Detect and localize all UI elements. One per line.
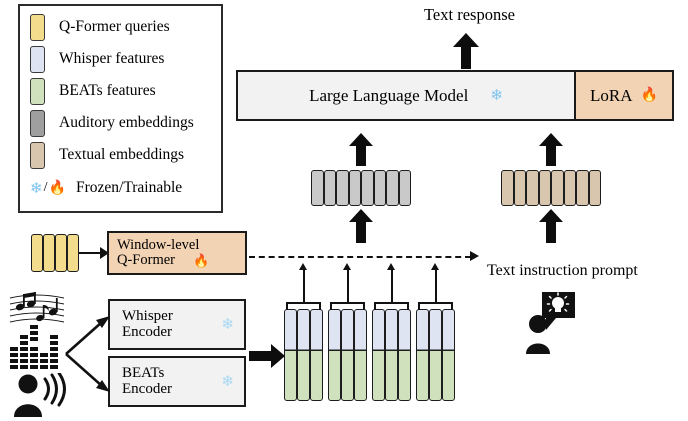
- arrow-right-icon: [470, 251, 479, 261]
- whisper-encoder-label-line1: Whisper: [122, 309, 173, 324]
- legend-item-frozen-trainable: ❄ / 🔥 Frozen/Trainable: [30, 173, 182, 203]
- textual-embedding-token: [564, 170, 577, 206]
- legend-swatch-qformer-queries: [30, 14, 45, 41]
- feature-column: [354, 309, 367, 401]
- lora-section[interactable]: LoRA 🔥: [576, 72, 672, 119]
- audio-features-area: [284, 309, 458, 409]
- legend-swatch-auditory-embeddings: [30, 110, 45, 137]
- feature-column: [284, 309, 297, 401]
- arrow-up-icon: [299, 263, 307, 270]
- qformer-query-token: [55, 234, 67, 272]
- auditory-embedding-token: [361, 170, 374, 206]
- textual-embedding-token: [576, 170, 589, 206]
- feature-column: [372, 309, 385, 401]
- speaking-person-icon: [12, 373, 68, 421]
- legend-swatch-beats-features: [30, 78, 45, 105]
- arrow-queries-to-qformer-line: [79, 252, 101, 254]
- arrow-up-icon: [343, 263, 351, 270]
- llm-label: Large Language Model: [309, 86, 468, 106]
- textual-embedding-token: [539, 170, 552, 206]
- beats-encoder-block[interactable]: BEATs Encoder ❄: [108, 356, 246, 407]
- qformer-query-token: [31, 234, 43, 272]
- feature-group: [284, 309, 323, 401]
- snowflake-icon: ❄: [30, 179, 43, 198]
- textual-embedding-token: [589, 170, 602, 206]
- qformer-query-token: [67, 234, 79, 272]
- legend-item-auditory-embeddings: Auditory embeddings: [30, 108, 194, 138]
- arrow-up-icon: [348, 133, 374, 166]
- person-speech-bubble-idea-icon: [524, 292, 580, 359]
- auditory-embedding-token: [374, 170, 387, 206]
- feature-group-connectors: [284, 262, 464, 310]
- legend-label-frozen-trainable: Frozen/Trainable: [76, 180, 182, 196]
- legend-item-qformer-queries: Q-Former queries: [30, 12, 170, 42]
- legend-item-beats-features: BEATs features: [30, 76, 156, 106]
- lora-label: LoRA: [590, 86, 633, 106]
- textual-embedding-token: [526, 170, 539, 206]
- arrow-features-to-auditory: [348, 209, 374, 248]
- auditory-embedding-token: [311, 170, 324, 206]
- arrow-up-shaft: [435, 269, 437, 297]
- group-bracket: [418, 302, 453, 310]
- auditory-embedding-token: [349, 170, 362, 206]
- qformer-label-line1: Window-level: [117, 238, 245, 253]
- snowflake-icon: ❄: [221, 372, 234, 391]
- llm-main-section: Large Language Model ❄: [238, 72, 576, 119]
- audio-fanout-arrows: [64, 310, 112, 403]
- group-bracket: [374, 302, 409, 310]
- legend-panel: Q-Former queries Whisper features BEATs …: [18, 4, 223, 213]
- dashed-connector-line: [249, 256, 471, 258]
- group-bracket: [330, 302, 365, 310]
- arrow-up-icon: [431, 263, 439, 270]
- textual-embedding-token: [514, 170, 527, 206]
- legend-item-whisper-features: Whisper features: [30, 44, 164, 74]
- arrow-up-shaft: [303, 269, 305, 297]
- feature-column: [385, 309, 398, 401]
- arrow-up-icon: [387, 263, 395, 270]
- fire-icon: 🔥: [193, 254, 209, 268]
- window-level-qformer-block[interactable]: Window-level Q-Former 🔥: [107, 231, 247, 275]
- qformer-label-line2: Q-Former: [117, 253, 175, 268]
- arrow-encoders-to-features: [249, 344, 285, 373]
- arrow-prompt-to-textual: [538, 209, 564, 248]
- legend-swatch-textual-embeddings: [30, 142, 45, 169]
- qformer-query-token: [43, 234, 55, 272]
- arrow-up-icon: [452, 33, 480, 69]
- arrow-llm-to-response: [452, 33, 480, 74]
- feature-column: [416, 309, 429, 401]
- arrow-up-icon: [538, 209, 564, 243]
- large-language-model-block[interactable]: Large Language Model ❄ LoRA 🔥: [236, 70, 674, 121]
- auditory-embeddings-strip: [311, 170, 411, 206]
- text-instruction-prompt-label: Text instruction prompt: [487, 262, 638, 280]
- arrow-right-icon: [249, 344, 285, 368]
- snowflake-icon: ❄: [221, 315, 234, 334]
- feature-column: [429, 309, 442, 401]
- auditory-embedding-token: [324, 170, 337, 206]
- arrow-up-shaft: [347, 269, 349, 297]
- legend-label-whisper-features: Whisper features: [59, 51, 164, 67]
- text-response-label: Text response: [424, 5, 515, 25]
- arrow-up-icon: [538, 133, 564, 166]
- fire-icon: 🔥: [641, 87, 658, 104]
- feature-group: [416, 309, 455, 401]
- feature-column: [328, 309, 341, 401]
- feature-group: [328, 309, 367, 401]
- snowflake-icon: ❄: [490, 86, 503, 105]
- legend-status-icons: ❄ / 🔥: [30, 179, 72, 198]
- legend-separator: /: [44, 180, 48, 196]
- feature-column: [398, 309, 411, 401]
- whisper-encoder-block[interactable]: Whisper Encoder ❄: [108, 299, 246, 350]
- feature-column: [341, 309, 354, 401]
- legend-label-beats-features: BEATs features: [59, 83, 156, 99]
- textual-embedding-token: [551, 170, 564, 206]
- legend-item-textual-embeddings: Textual embeddings: [30, 140, 184, 170]
- arrow-up-shaft: [391, 269, 393, 297]
- architecture-diagram: Q-Former queries Whisper features BEATs …: [0, 0, 688, 421]
- legend-swatch-whisper-features: [30, 46, 45, 73]
- feature-column: [442, 309, 455, 401]
- legend-label-textual-embeddings: Textual embeddings: [59, 147, 184, 163]
- textual-embedding-token: [501, 170, 514, 206]
- equalizer-icon: [10, 325, 66, 374]
- arrow-textual-to-llm: [538, 133, 564, 171]
- arrow-up-icon: [348, 209, 374, 243]
- legend-label-qformer-queries: Q-Former queries: [59, 19, 170, 35]
- feature-group: [372, 309, 411, 401]
- whisper-encoder-label-line2: Encoder: [122, 325, 173, 340]
- arrow-auditory-to-llm: [348, 133, 374, 171]
- feature-column: [297, 309, 310, 401]
- legend-label-auditory-embeddings: Auditory embeddings: [59, 115, 194, 131]
- qformer-queries-strip: [31, 234, 79, 272]
- auditory-embedding-token: [399, 170, 412, 206]
- textual-embeddings-strip: [501, 170, 601, 206]
- auditory-embedding-token: [386, 170, 399, 206]
- beats-encoder-label-line2: Encoder: [122, 382, 172, 397]
- beats-encoder-label-line1: BEATs: [122, 366, 172, 381]
- auditory-embedding-token: [336, 170, 349, 206]
- feature-column: [310, 309, 323, 401]
- group-bracket: [286, 302, 321, 310]
- fire-icon: 🔥: [48, 180, 65, 197]
